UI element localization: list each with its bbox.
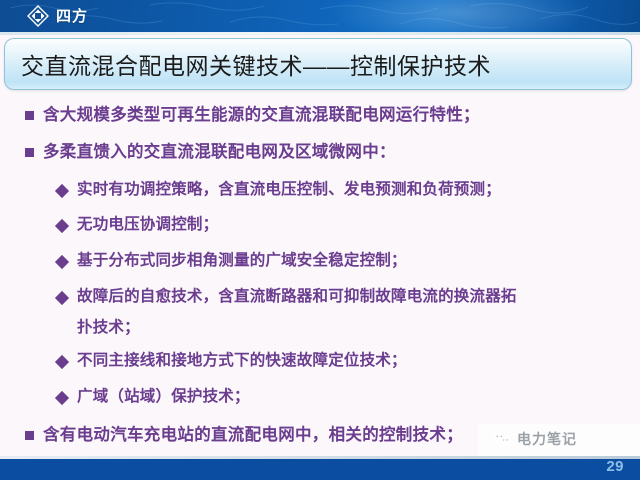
diamond-bullet-icon bbox=[55, 255, 69, 269]
bullet-text: 无功电压协调控制； bbox=[77, 215, 218, 236]
bullet-text: 多柔直馈入的交直流混联配电网及区域微网中： bbox=[43, 141, 396, 163]
sub-bullet-item: 故障后的自愈技术，含直流断路器和可抑制故障电流的换流器拓 bbox=[57, 287, 517, 308]
bullet-text: 含大规模多类型可再生能源的交直流混联配电网运行特性； bbox=[43, 104, 480, 126]
square-bullet-icon bbox=[25, 111, 34, 120]
square-bullet-icon bbox=[25, 431, 34, 440]
diamond-bullet-icon bbox=[55, 291, 69, 305]
bullet-text: 含有电动汽车充电站的直流配电网中，相关的控制技术； bbox=[43, 424, 463, 446]
slide-header: 四方 bbox=[0, 0, 640, 32]
slide-footer bbox=[0, 459, 640, 480]
slide: 四方 交直流混合配电网关键技术——控制保护技术 含大规模多类型可再生能源的交直流… bbox=[0, 0, 640, 480]
sub-bullet-item: 不同主接线和接地方式下的快速故障定位技术； bbox=[57, 351, 407, 372]
bullet-text: 不同主接线和接地方式下的快速故障定位技术； bbox=[77, 351, 407, 372]
bullet-text-continuation: 扑技术； bbox=[77, 315, 140, 337]
header-wave-pattern bbox=[0, 0, 640, 32]
square-bullet-icon bbox=[25, 148, 34, 157]
bullet-text: 实时有功调控策略，含直流电压控制、发电预测和负荷预测； bbox=[77, 180, 501, 201]
bullet-text: 基于分布式同步相角测量的广域安全稳定控制； bbox=[77, 251, 407, 272]
bullet-text: 广域（站域）保护技术； bbox=[77, 387, 250, 408]
page-number: 29 bbox=[606, 458, 624, 475]
bullet-text: 故障后的自愈技术，含直流断路器和可抑制故障电流的换流器拓 bbox=[77, 287, 517, 308]
sub-bullet-item: 无功电压协调控制； bbox=[57, 215, 218, 236]
brand-name: 四方 bbox=[56, 9, 88, 24]
compass-diamond-icon bbox=[27, 5, 49, 27]
bullet-item: 多柔直馈入的交直流混联配电网及区域微网中： bbox=[25, 141, 396, 163]
page-title: 交直流混合配电网关键技术——控制保护技术 bbox=[21, 47, 491, 81]
sub-bullet-item: 实时有功调控策略，含直流电压控制、发电预测和负荷预测； bbox=[57, 180, 501, 201]
sub-bullet-item: 广域（站域）保护技术； bbox=[57, 387, 250, 408]
header-underline bbox=[0, 32, 640, 35]
bullet-item: 含大规模多类型可再生能源的交直流混联配电网运行特性； bbox=[25, 104, 480, 126]
sub-bullet-item: 基于分布式同步相角测量的广域安全稳定控制； bbox=[57, 251, 407, 272]
diamond-bullet-icon bbox=[55, 184, 69, 198]
diamond-bullet-icon bbox=[55, 355, 69, 369]
diamond-bullet-icon bbox=[55, 219, 69, 233]
slide-body: 含大规模多类型可再生能源的交直流混联配电网运行特性； 多柔直馈入的交直流混联配电… bbox=[0, 96, 640, 459]
brand-logo[interactable]: 四方 bbox=[27, 4, 88, 28]
diamond-bullet-icon bbox=[55, 391, 69, 405]
slide-title-box: 交直流混合配电网关键技术——控制保护技术 bbox=[4, 38, 632, 90]
bullet-item: 含有电动汽车充电站的直流配电网中，相关的控制技术； bbox=[25, 424, 463, 446]
